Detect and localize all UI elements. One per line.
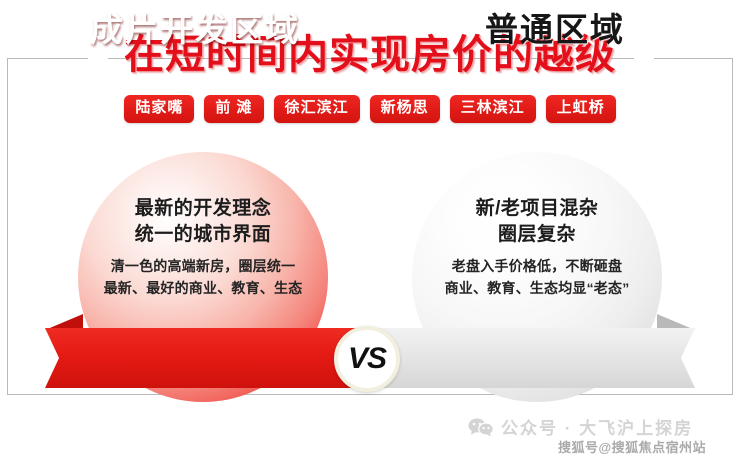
band-label-right: 普通区域 (405, 0, 705, 60)
right-headline-line2: 圈层复杂 (387, 222, 687, 248)
wechat-icon (468, 418, 494, 436)
band-half-right (361, 328, 695, 388)
left-sub-line1: 清一色的高端新房，圈层统一 (53, 256, 353, 278)
right-headline-line1: 新/老项目混杂 (387, 196, 687, 222)
left-sub-line2: 最新、最好的商业、教育、生态 (53, 278, 353, 300)
district-tag-lujiazui[interactable]: 陆家嘴 (124, 95, 194, 123)
right-sub-line1: 老盘入手价格低，不断砸盘 (387, 256, 687, 278)
left-headline-line2: 统一的城市界面 (53, 222, 353, 248)
district-tag-qiantan[interactable]: 前 滩 (204, 95, 263, 123)
left-headline-line1: 最新的开发理念 (53, 196, 353, 222)
infographic-canvas: 在短时间内实现房价的越级 陆家嘴 前 滩 徐汇滨江 新杨思 三林滨江 上虹桥 最… (0, 0, 740, 465)
right-sub-line2: 商业、教育、生态均显“老态” (387, 278, 687, 300)
district-tag-xuhuibinjiang[interactable]: 徐汇滨江 (274, 95, 360, 123)
right-panel-text: 新/老项目混杂 圈层复杂 老盘入手价格低，不断砸盘 商业、教育、生态均显“老态” (387, 196, 687, 300)
wechat-watermark-text: 公众号 · 大飞沪上探房 (501, 414, 693, 439)
band-label-left: 成片开发区域 (45, 0, 345, 60)
district-tag-shanghongqiao[interactable]: 上虹桥 (546, 95, 616, 123)
wechat-watermark: 公众号 · 大飞沪上探房 (468, 414, 693, 439)
vs-badge: VS (334, 326, 400, 392)
district-tag-list: 陆家嘴 前 滩 徐汇滨江 新杨思 三林滨江 上虹桥 (0, 95, 740, 123)
district-tag-xinyangsi[interactable]: 新杨思 (370, 95, 440, 123)
district-tag-sanlinbinjiang[interactable]: 三林滨江 (450, 95, 536, 123)
band-half-left (45, 328, 379, 388)
sohu-watermark-text: 搜狐号@搜狐焦点宿州站 (558, 437, 706, 456)
left-panel-text: 最新的开发理念 统一的城市界面 清一色的高端新房，圈层统一 最新、最好的商业、教… (53, 196, 353, 300)
